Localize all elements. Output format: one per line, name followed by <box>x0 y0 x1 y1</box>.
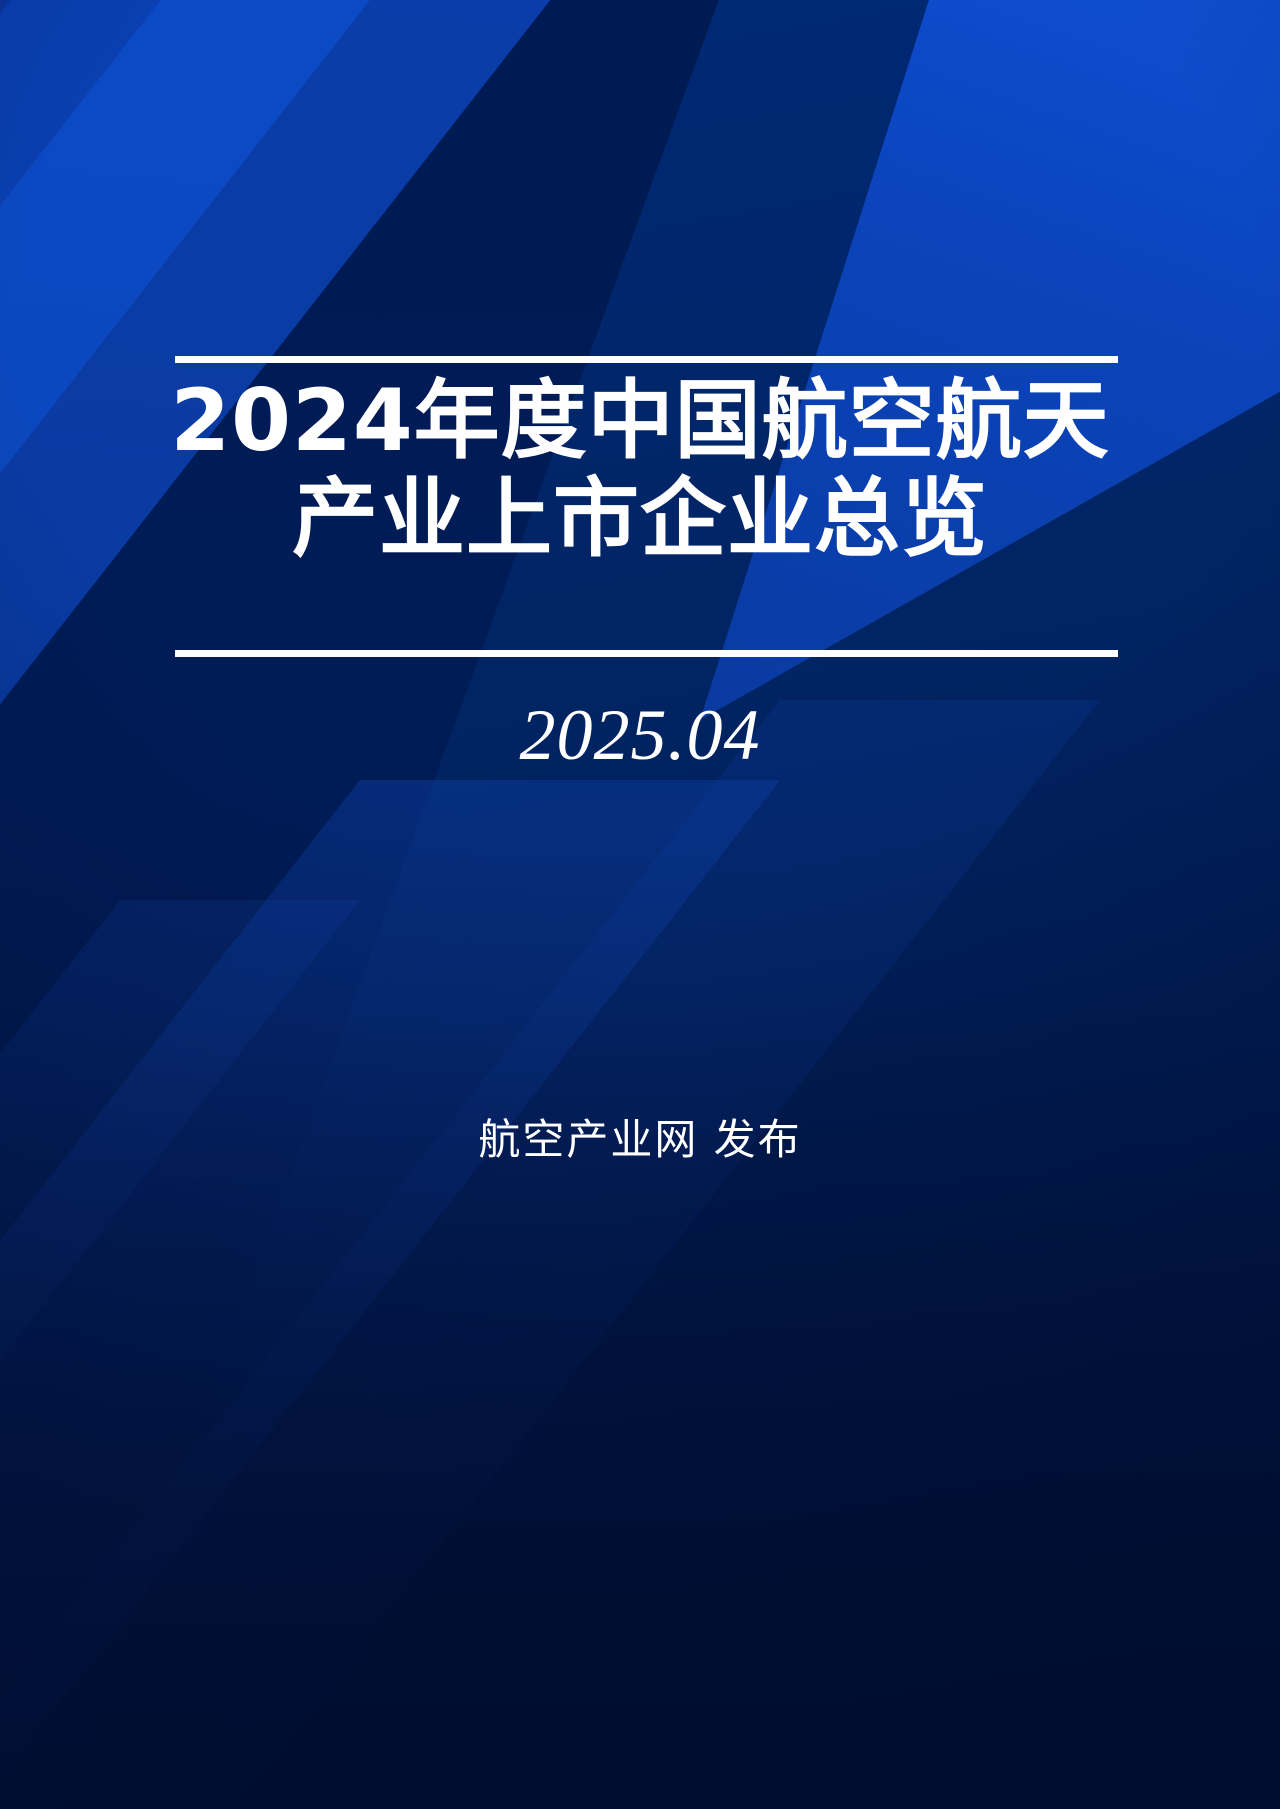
cover-content: 2024年度中国航空航天 产业上市企业总览 2025.04 航空产业网 发布 <box>0 0 1280 1809</box>
report-cover-page: 2024年度中国航空航天 产业上市企业总览 2025.04 航空产业网 发布 <box>0 0 1280 1809</box>
publication-date: 2025.04 <box>0 694 1280 777</box>
title-divider-bottom <box>175 650 1118 657</box>
title-line-2: 产业上市企业总览 <box>0 470 1280 568</box>
title-line-1: 2024年度中国航空航天 <box>0 372 1280 470</box>
title-divider-top <box>175 356 1118 363</box>
page-title: 2024年度中国航空航天 产业上市企业总览 <box>0 372 1280 568</box>
publisher-credit: 航空产业网 发布 <box>0 1106 1280 1167</box>
